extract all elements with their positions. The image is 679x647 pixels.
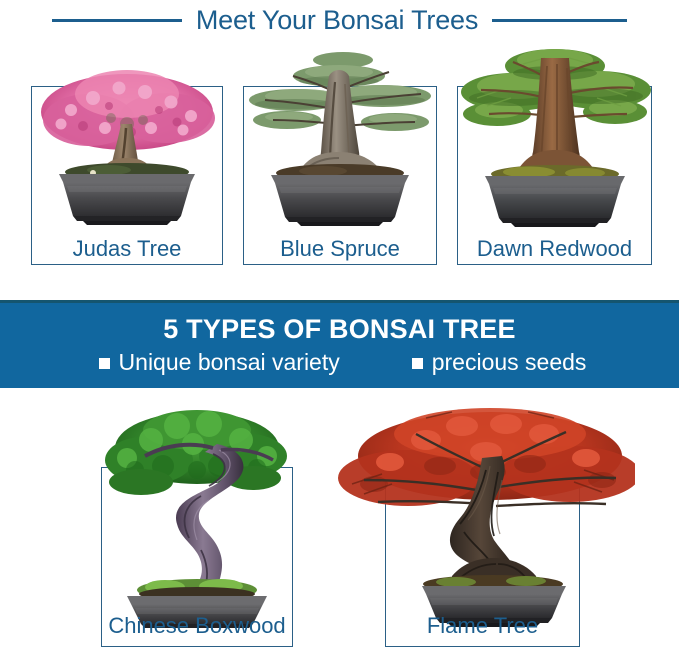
header-rule-right xyxy=(492,19,627,22)
banner-title: 5 TYPES OF BONSAI TREE xyxy=(163,315,515,343)
promo-banner: 5 TYPES OF BONSAI TREE Unique bonsai var… xyxy=(0,300,679,388)
tree-card-label-judas-tree: Judas Tree xyxy=(31,236,223,262)
square-bullet-icon xyxy=(412,358,423,369)
banner-bullet-list: Unique bonsai variety precious seeds xyxy=(0,349,679,376)
tree-card-label-dawn-redwood: Dawn Redwood xyxy=(457,236,652,262)
banner-bullet-item-2: precious seeds xyxy=(412,349,587,376)
square-bullet-icon xyxy=(99,358,110,369)
tree-card-label-flame-tree: Flame Tree xyxy=(385,613,580,639)
infographic-page: Meet Your Bonsai Trees xyxy=(0,0,679,647)
tree-card-label-chinese-boxwood: Chinese Boxwood xyxy=(101,613,293,639)
page-title: Meet Your Bonsai Trees xyxy=(196,5,478,36)
banner-bullet-label-2: precious seeds xyxy=(432,349,587,376)
banner-bullet-item-1: Unique bonsai variety xyxy=(99,349,340,376)
tree-card-label-blue-spruce: Blue Spruce xyxy=(243,236,437,262)
header-rule-left xyxy=(52,19,182,22)
banner-bullet-label-1: Unique bonsai variety xyxy=(119,349,340,376)
header: Meet Your Bonsai Trees xyxy=(0,0,679,40)
